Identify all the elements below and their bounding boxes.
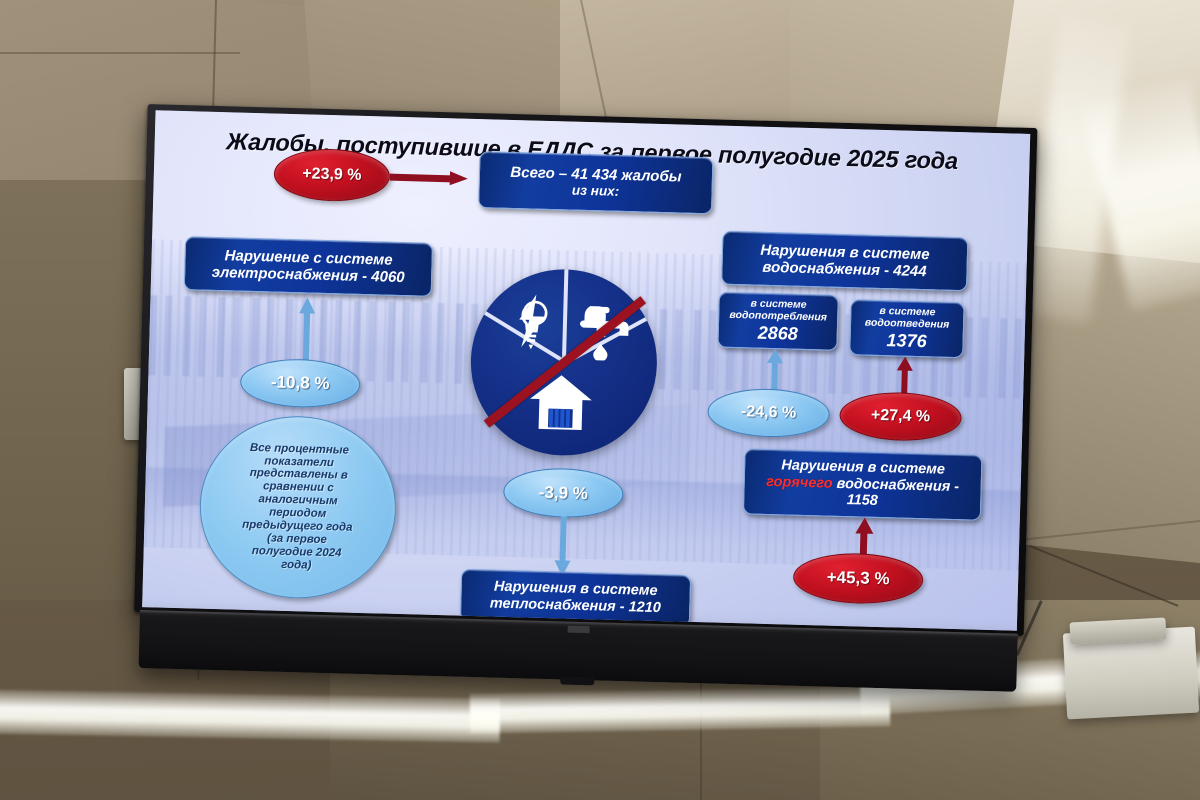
ceiling-light-strip: [0, 689, 500, 742]
water-drainage-box: в системе водоотведения 1376: [849, 299, 964, 358]
connector-shaft: [390, 174, 452, 183]
tv-bezel: Жалобы, поступившие в ЕДДС за первое пол…: [134, 104, 1037, 636]
heating-box: Нарушения в системе теплоснабжения - 121…: [460, 569, 691, 627]
water-consumption-line-2: водопотребления: [729, 309, 827, 324]
connector-heating-arrow: [553, 516, 573, 578]
connector-arrowhead: [855, 517, 873, 533]
note-line-9: полугодие 2024: [252, 545, 342, 560]
presentation-slide: Жалобы, поступившие в ЕДДС за первое пол…: [142, 110, 1030, 630]
connector-total-arrow: [390, 170, 476, 186]
total-complaints-box: Всего – 41 434 жалобы из них:: [478, 151, 713, 214]
water-line-2: водоснабжения - 4244: [762, 259, 927, 281]
connector-water-consumption-arrow: [766, 349, 783, 393]
ceiling-seam: [0, 52, 240, 54]
water-drainage-change-value: +27,4 %: [871, 407, 931, 427]
connector-shaft: [559, 516, 566, 564]
connector-arrowhead: [767, 349, 783, 363]
water-supply-box: Нарушения в системе водоснабжения - 4244: [721, 231, 968, 292]
connector-electricity-arrow: [297, 297, 317, 361]
connector-arrowhead: [897, 356, 913, 370]
water-consumption-box: в системе водопотребления 2868: [717, 292, 838, 351]
hot-water-keyword: горячего: [766, 474, 833, 492]
utilities-icon: [468, 267, 659, 458]
connector-arrowhead: [299, 297, 315, 313]
hot-water-line-3: 1158: [846, 493, 878, 511]
tv-ir-receiver: [560, 676, 594, 685]
note-line-10: года): [281, 558, 312, 572]
connector-shaft: [303, 311, 310, 363]
water-drainage-value: 1376: [886, 330, 927, 352]
heating-line-2: теплоснабжения - 1210: [490, 596, 661, 617]
hot-water-change-value: +45,3 %: [826, 568, 889, 590]
electricity-box: Нарушение с системе электроснабжения - 4…: [184, 236, 433, 297]
heating-change-value: -3,9 %: [539, 482, 589, 503]
electricity-change-value: -10,8 %: [271, 373, 330, 395]
total-line-1: Всего – 41 434 жалобы: [510, 164, 682, 186]
wall-mounted-tv: Жалобы, поступившие в ЕДДС за первое пол…: [133, 104, 1038, 688]
total-change-value: +23,9 %: [302, 165, 362, 185]
connector-shaft: [771, 359, 778, 393]
segment-seam: [562, 269, 569, 364]
tv-brand-logo: [568, 626, 590, 634]
water-consumption-change-value: -24,6 %: [741, 403, 797, 422]
ceiling-light-strip: [470, 686, 891, 733]
water-drainage-line-2: водоотведения: [865, 317, 950, 331]
tv-screen[interactable]: Жалобы, поступившие в ЕДДС за первое пол…: [142, 110, 1030, 630]
lightning-bulb-icon: [503, 292, 561, 357]
water-consumption-value: 2868: [757, 323, 798, 345]
total-line-2: из них:: [572, 183, 620, 200]
connector-arrowhead: [450, 171, 468, 185]
hot-water-box: Нарушения в системе горячего водоснабжен…: [743, 448, 983, 520]
